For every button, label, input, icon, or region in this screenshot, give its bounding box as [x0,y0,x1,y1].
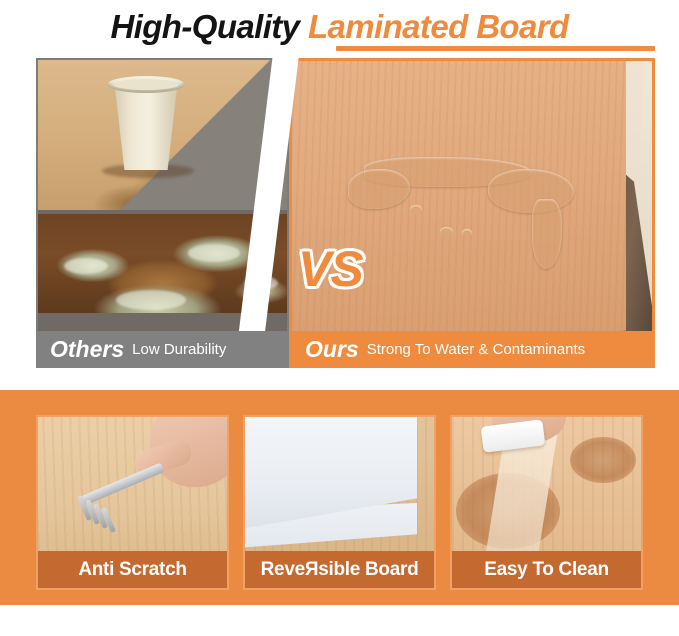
board-surface [292,61,626,365]
comparison-section: VS Others Low Durability Ours Strong To … [36,58,655,368]
image-water-beading-on-laminate [292,61,652,365]
image-fork-scratch-test [38,417,227,555]
ours-sub-label: Strong To Water & Contaminants [367,342,585,357]
others-strong-label: Others [50,338,124,361]
image-paper-cup-spill-on-board [38,60,287,210]
feature-card-easy-to-clean: Easy To Clean [450,415,643,590]
page-title: High-Quality Laminated Board [0,0,679,52]
water-spill-right [488,169,574,213]
feature-caption-bar: Anti Scratch [38,551,227,588]
image-reversible-white-board-sheet [245,417,434,555]
title-part-accent: Laminated Board [308,8,569,45]
image-wiping-spill-with-cloth [452,417,641,555]
spill-stain-small [570,437,636,483]
cup-inner [113,79,179,90]
title-part-dark: High-Quality [110,8,299,45]
vs-badge: VS [298,244,363,294]
paper-cup [110,82,182,170]
feature-caption: ReveЯsible Board [261,560,419,579]
ours-strong-label: Ours [305,338,359,361]
feature-caption-bar: ReveЯsible Board [245,551,434,588]
water-droplet-1 [410,205,422,214]
features-row: Anti Scratch ReveЯsible Board [36,415,643,590]
ours-label-bar: Ours Strong To Water & Contaminants [289,331,655,368]
feature-caption: Easy To Clean [484,560,609,579]
water-droplet-3 [462,229,472,237]
others-label-bar: Others Low Durability [36,331,289,368]
feature-caption-bar: Easy To Clean [452,551,641,588]
feature-card-reversible-board: ReveЯsible Board [243,415,436,590]
water-droplet-2 [440,227,453,236]
product-infographic: High-Quality Laminated Board [0,0,679,636]
feature-card-anti-scratch: Anti Scratch [36,415,229,590]
others-sub-label: Low Durability [132,342,226,357]
ours-column [289,58,655,368]
feature-caption: Anti Scratch [78,560,186,579]
title-underline [336,46,655,51]
